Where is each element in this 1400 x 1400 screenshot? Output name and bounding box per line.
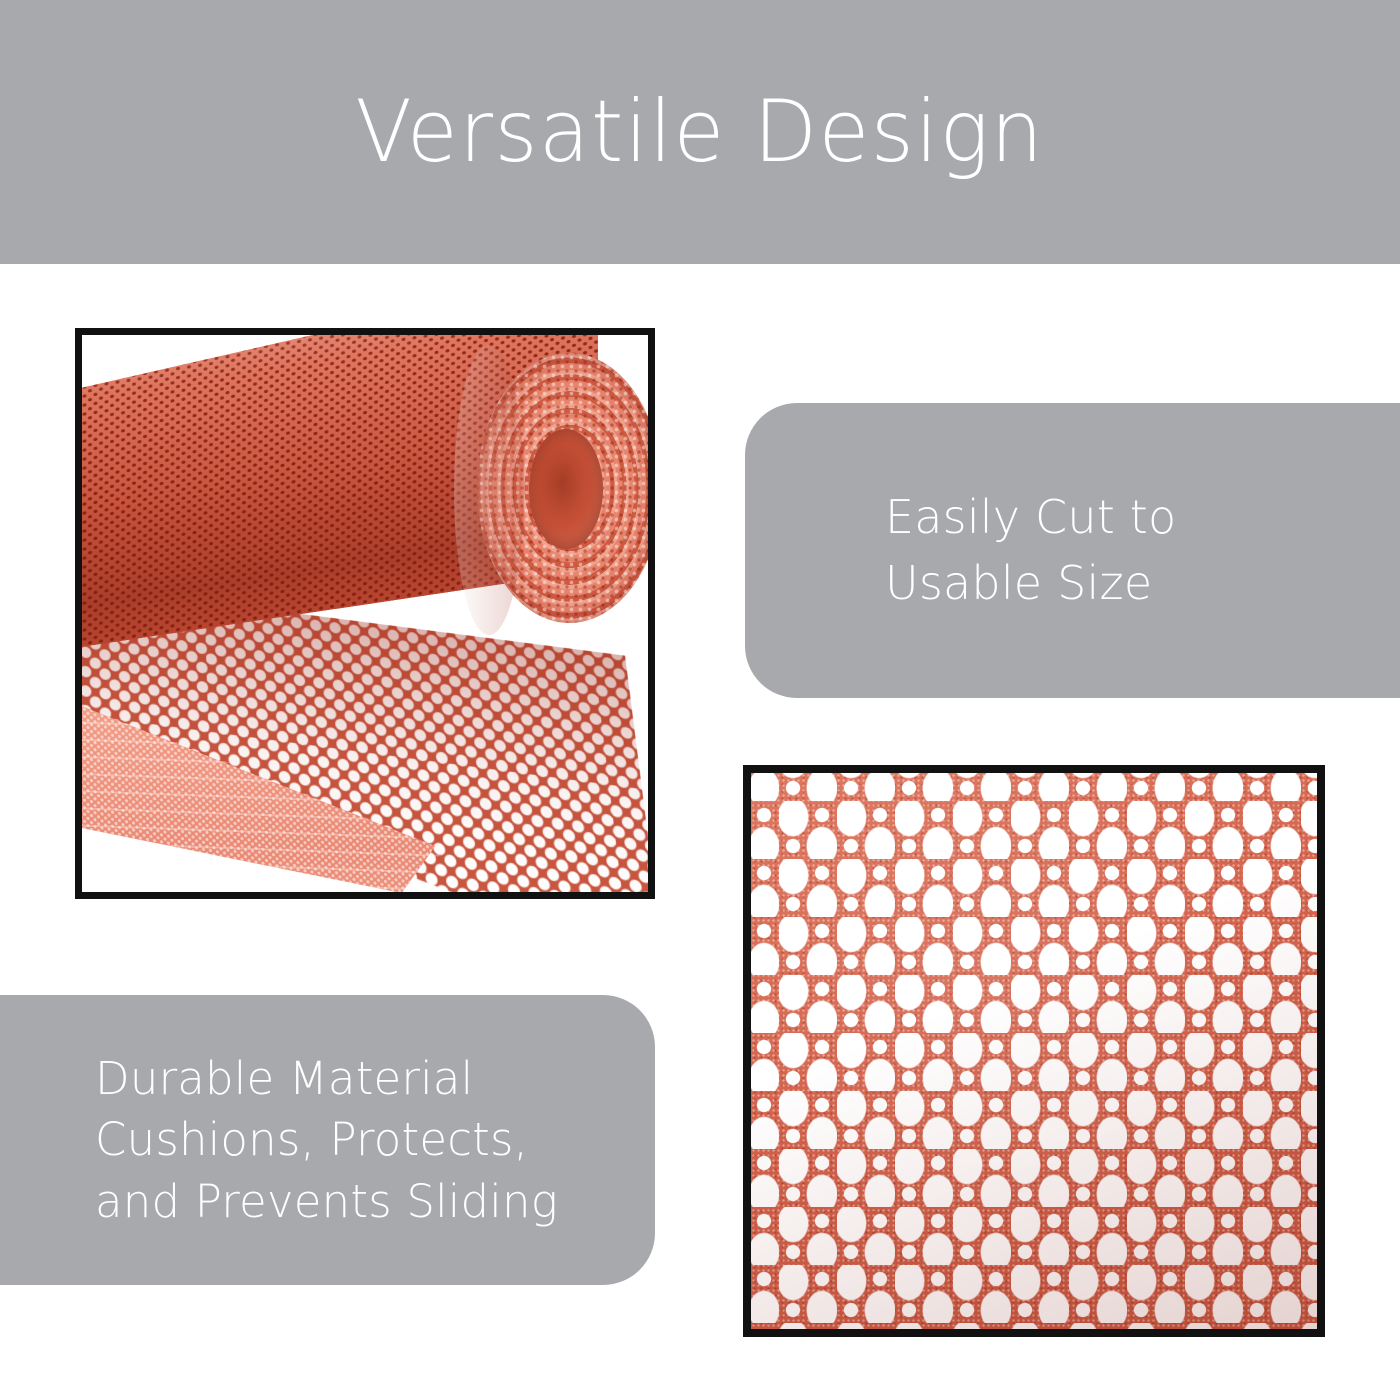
- rolled-mat-artwork: [82, 335, 648, 892]
- mesh-texture: [751, 773, 1317, 1329]
- roll-end-cap: [477, 353, 648, 623]
- header-banner: Versatile Design: [0, 0, 1400, 264]
- callout-easily-cut-text: Easily Cut to Usable Size: [885, 485, 1176, 616]
- rolled-mat-photo: [75, 328, 655, 899]
- callout-easily-cut: Easily Cut to Usable Size: [745, 403, 1400, 698]
- mesh-closeup-photo: [743, 765, 1325, 1337]
- callout-durable-material-text: Durable Material Cushions, Protects, and…: [95, 1048, 558, 1232]
- page-title: Versatile Design: [356, 89, 1045, 175]
- mesh-closeup-artwork: [751, 773, 1317, 1329]
- callout-durable-material: Durable Material Cushions, Protects, and…: [0, 995, 655, 1285]
- roll-core: [529, 429, 603, 549]
